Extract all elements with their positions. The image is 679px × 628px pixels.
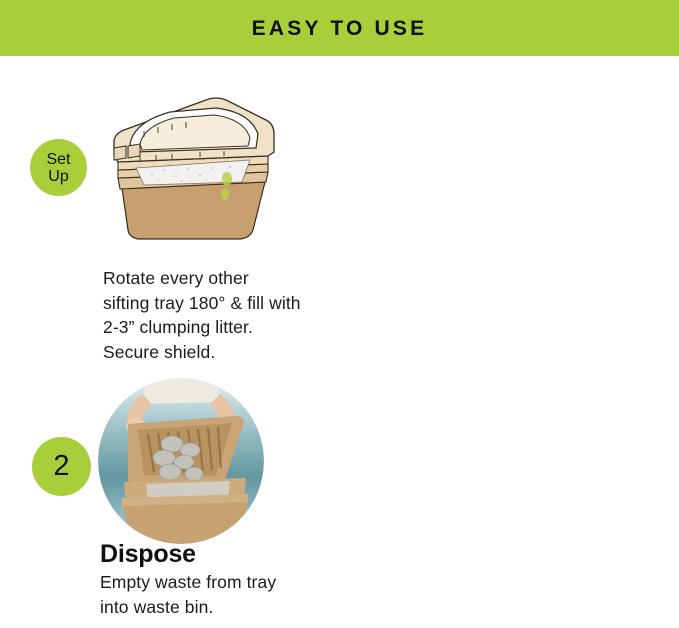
- badge-set-up-line2: Up: [48, 168, 68, 185]
- caption-line: 2-3” clumping litter.: [103, 315, 301, 340]
- header-banner: EASY TO USE: [0, 0, 679, 56]
- caption-step-2: Dispose Empty waste from tray into waste…: [100, 539, 276, 619]
- page-title: EASY TO USE: [252, 18, 428, 39]
- caption-line: sifting tray 180° & fill with: [103, 291, 301, 316]
- step-set-up: Set Up: [0, 56, 339, 342]
- badge-step-2: 2: [32, 437, 91, 496]
- sifting-tray-with-clumps-photo: [98, 378, 264, 544]
- step-3: 3: [340, 342, 679, 628]
- step-2-heading: Dispose: [100, 539, 276, 569]
- litter-box-with-shield-illustration: [100, 82, 290, 252]
- caption-line: Rotate every other: [103, 266, 301, 291]
- caption-line: into waste bin.: [100, 595, 276, 620]
- badge-set-up-line1: Set: [46, 151, 70, 168]
- step-2: 2: [0, 342, 339, 628]
- badge-step-2-number: 2: [53, 452, 69, 481]
- badge-set-up: Set Up: [30, 139, 87, 196]
- steps-grid: Set Up: [0, 56, 679, 628]
- caption-line: Empty waste from tray: [100, 570, 276, 595]
- step-1: 1: [340, 56, 679, 342]
